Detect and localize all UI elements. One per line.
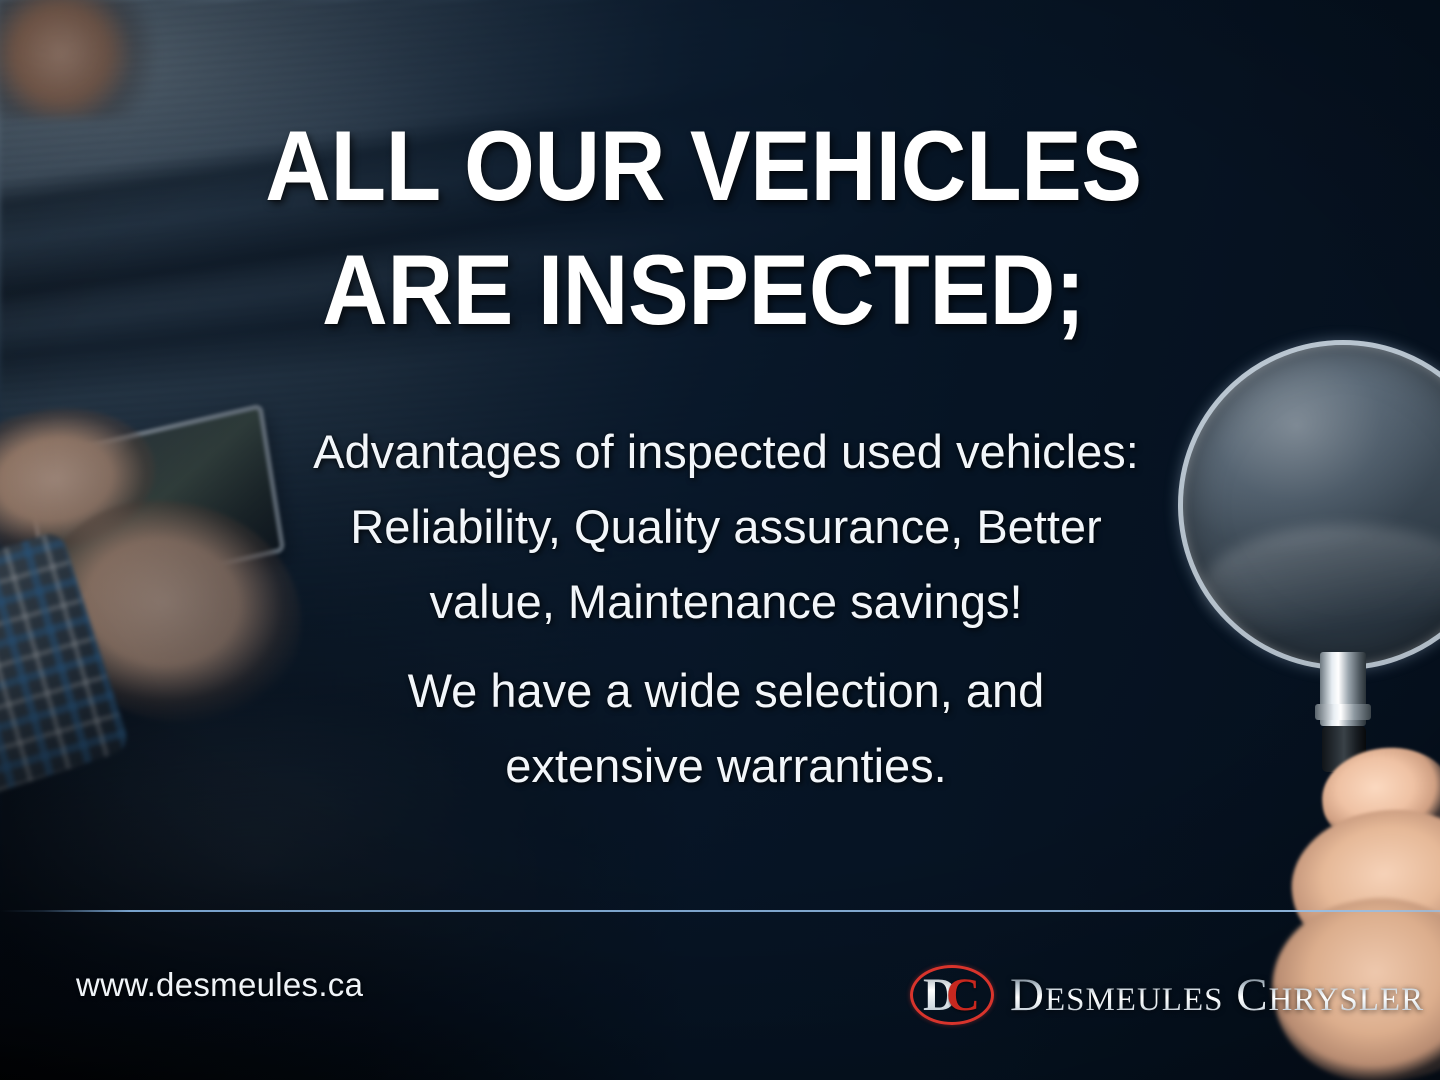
page-title: ALL OUR VEHICLES ARE INSPECTED; [58,104,1383,352]
logo-wordmark: Desmeules Chrysler [1010,972,1424,1019]
logo-letter-c: C [946,965,980,1025]
logo-monogram: D C [910,965,994,1025]
body-paragraph-selection: We have a wide selection, and extensive … [196,653,1256,803]
footer-divider [0,910,1440,912]
dealership-logo[interactable]: D C Desmeules Chrysler [910,950,1424,1040]
magnifier-collar [1315,704,1371,720]
body-paragraph-advantages: Advantages of inspected used vehicles: R… [196,414,1256,639]
website-url[interactable]: www.desmeules.ca [76,966,363,1004]
promo-slide: ALL OUR VEHICLES ARE INSPECTED; Advantag… [0,0,1440,1080]
